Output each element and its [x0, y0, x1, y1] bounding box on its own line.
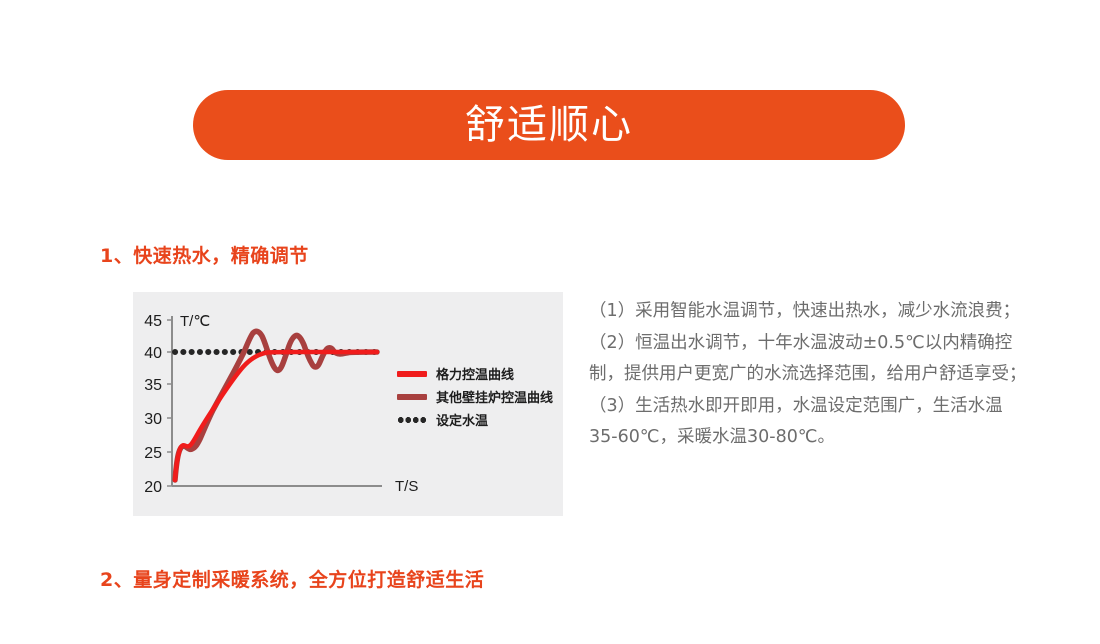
feature-item-2: （2）恒温出水调节，十年水温波动±0.5℃以内精确控制，提供用户更宽广的水流选择…: [589, 328, 1029, 391]
legend-marker-dotted-black-icon: [397, 417, 427, 423]
ytick-30: 30: [144, 411, 162, 428]
legend-item-gree: 格力控温曲线: [397, 362, 553, 385]
ytick-40: 40: [144, 345, 162, 362]
section-heading-2: 2、量身定制采暖系统，全方位打造舒适生活: [100, 565, 484, 592]
legend-marker-solid-darkred-icon: [397, 394, 427, 400]
chart-legend: 格力控温曲线 其他壁挂炉控温曲线 设定水温: [397, 362, 553, 431]
section-heading-1: 1、快速热水，精确调节: [100, 241, 309, 268]
legend-label-setpoint: 设定水温: [436, 410, 488, 429]
ytick-20: 20: [144, 479, 162, 496]
temperature-control-chart: 45 40 35 30 25 20 T/℃ T/S 格力控温曲线 其他壁挂炉控温…: [133, 292, 563, 516]
x-axis-title: T/S: [395, 478, 418, 495]
y-axis-title: T/℃: [180, 313, 210, 330]
feature-item-3: （3）生活热水即开即用，水温设定范围广，生活水温35-60℃，采暖水温30-80…: [589, 391, 1029, 454]
legend-item-setpoint: 设定水温: [397, 408, 553, 431]
feature-description-block: （1）采用智能水温调节，快速出热水，减少水流浪费； （2）恒温出水调节，十年水温…: [589, 296, 1029, 454]
ytick-45: 45: [144, 313, 162, 330]
feature-item-1: （1）采用智能水温调节，快速出热水，减少水流浪费；: [589, 296, 1029, 328]
ytick-35: 35: [144, 377, 162, 394]
legend-marker-solid-red-icon: [397, 371, 427, 377]
legend-label-gree: 格力控温曲线: [436, 364, 514, 383]
page-title-banner: 舒适顺心: [193, 90, 905, 160]
legend-item-other-boiler: 其他壁挂炉控温曲线: [397, 385, 553, 408]
y-axis-tick-labels: 45 40 35 30 25 20: [144, 313, 162, 496]
ytick-25: 25: [144, 445, 162, 462]
page-title: 舒适顺心: [465, 105, 633, 145]
legend-label-other-boiler: 其他壁挂炉控温曲线: [436, 387, 553, 406]
